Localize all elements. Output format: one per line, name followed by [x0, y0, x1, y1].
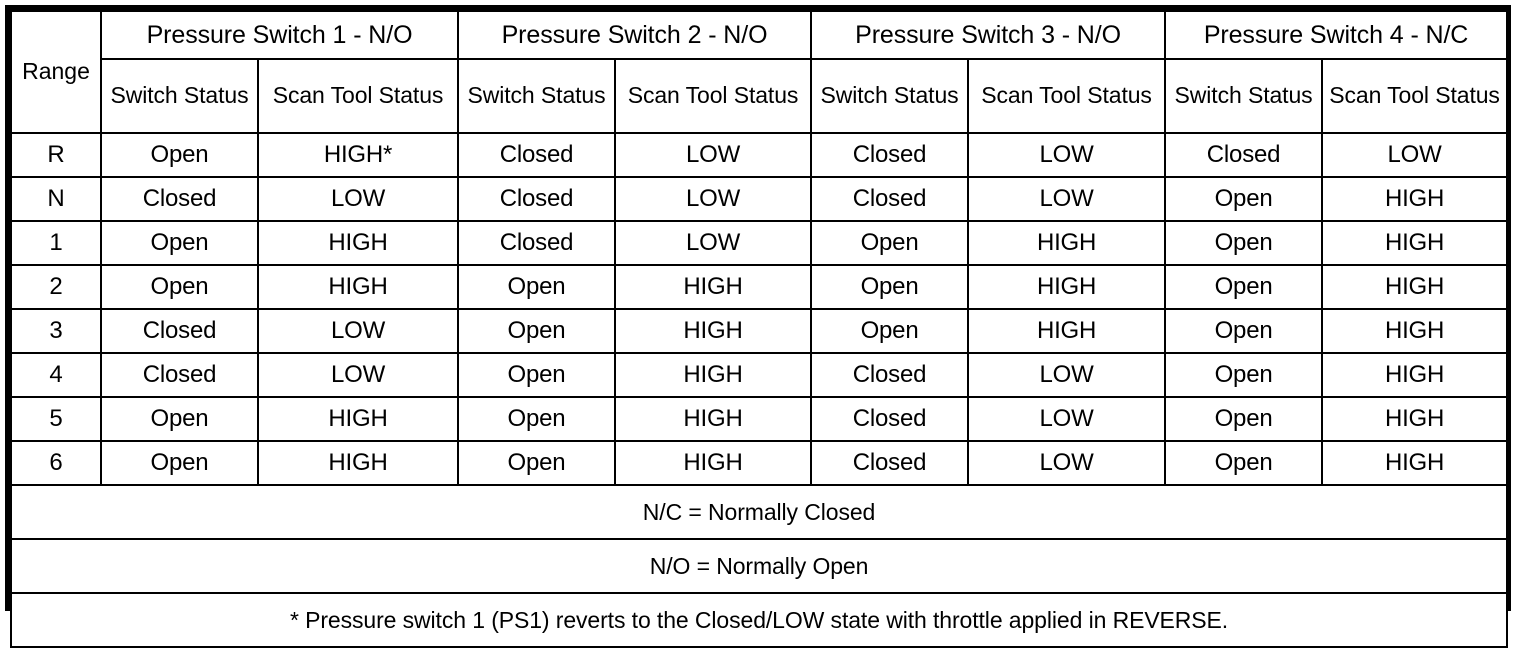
ps3-scan-tool-status-value: HIGH: [968, 221, 1165, 265]
ps3-switch-status-value: Closed: [811, 353, 968, 397]
ps3-scan-tool-status-value: LOW: [968, 353, 1165, 397]
ps1-scan-tool-status-value: LOW: [258, 353, 458, 397]
range-column-header: Range: [11, 11, 101, 133]
subheader-ps4-switch-status: Switch Status: [1165, 59, 1322, 133]
ps2-scan-tool-status-value: LOW: [615, 133, 811, 177]
ps1-switch-status-value: Closed: [101, 177, 258, 221]
table-row: 3ClosedLOWOpenHIGHOpenHIGHOpenHIGH: [11, 309, 1507, 353]
ps2-switch-status-value: Open: [458, 441, 615, 485]
ps4-scan-tool-status-value: HIGH: [1322, 309, 1507, 353]
ps2-scan-tool-status-value: LOW: [615, 221, 811, 265]
range-value: 6: [11, 441, 101, 485]
ps4-scan-tool-status-value: HIGH: [1322, 353, 1507, 397]
header-row-subcolumns: Switch Status Scan Tool Status Switch St…: [11, 59, 1507, 133]
ps2-switch-status-value: Closed: [458, 133, 615, 177]
ps1-switch-status-value: Open: [101, 265, 258, 309]
ps1-switch-status-value: Closed: [101, 353, 258, 397]
ps4-switch-status-value: Open: [1165, 265, 1322, 309]
ps2-scan-tool-status-value: HIGH: [615, 309, 811, 353]
table-row: 4ClosedLOWOpenHIGHClosedLOWOpenHIGH: [11, 353, 1507, 397]
subheader-ps1-switch-status: Switch Status: [101, 59, 258, 133]
ps4-scan-tool-status-value: HIGH: [1322, 265, 1507, 309]
range-value: 5: [11, 397, 101, 441]
ps3-switch-status-value: Closed: [811, 133, 968, 177]
ps2-scan-tool-status-value: HIGH: [615, 265, 811, 309]
range-value: 4: [11, 353, 101, 397]
ps3-switch-status-value: Open: [811, 309, 968, 353]
subheader-ps2-scan-tool-status: Scan Tool Status: [615, 59, 811, 133]
ps3-scan-tool-status-value: HIGH: [968, 309, 1165, 353]
group-header-pressure-switch-3: Pressure Switch 3 - N/O: [811, 11, 1165, 59]
ps2-switch-status-value: Closed: [458, 177, 615, 221]
ps2-scan-tool-status-value: HIGH: [615, 441, 811, 485]
table-row: 1OpenHIGHClosedLOWOpenHIGHOpenHIGH: [11, 221, 1507, 265]
ps2-switch-status-value: Open: [458, 353, 615, 397]
ps4-switch-status-value: Open: [1165, 397, 1322, 441]
footnote-normally-open: N/O = Normally Open: [11, 539, 1507, 593]
range-value: 1: [11, 221, 101, 265]
ps3-switch-status-value: Open: [811, 221, 968, 265]
pressure-switch-table-container: Range Pressure Switch 1 - N/O Pressure S…: [5, 5, 1511, 611]
ps4-switch-status-value: Open: [1165, 177, 1322, 221]
footnote-row-no: N/O = Normally Open: [11, 539, 1507, 593]
table-row: ROpenHIGH*ClosedLOWClosedLOWClosedLOW: [11, 133, 1507, 177]
ps4-scan-tool-status-value: HIGH: [1322, 221, 1507, 265]
subheader-ps3-switch-status: Switch Status: [811, 59, 968, 133]
table-body: ROpenHIGH*ClosedLOWClosedLOWClosedLOWNCl…: [11, 133, 1507, 485]
ps3-scan-tool-status-value: LOW: [968, 441, 1165, 485]
subheader-ps4-scan-tool-status: Scan Tool Status: [1322, 59, 1507, 133]
table-row: NClosedLOWClosedLOWClosedLOWOpenHIGH: [11, 177, 1507, 221]
ps2-scan-tool-status-value: HIGH: [615, 397, 811, 441]
group-header-pressure-switch-2: Pressure Switch 2 - N/O: [458, 11, 811, 59]
ps3-scan-tool-status-value: HIGH: [968, 265, 1165, 309]
ps2-switch-status-value: Open: [458, 397, 615, 441]
pressure-switch-range-table: Range Pressure Switch 1 - N/O Pressure S…: [10, 10, 1508, 648]
range-value: R: [11, 133, 101, 177]
ps3-switch-status-value: Closed: [811, 441, 968, 485]
ps1-switch-status-value: Closed: [101, 309, 258, 353]
group-header-pressure-switch-1: Pressure Switch 1 - N/O: [101, 11, 458, 59]
table-footnotes: N/C = Normally Closed N/O = Normally Ope…: [11, 485, 1507, 647]
table-row: 5OpenHIGHOpenHIGHClosedLOWOpenHIGH: [11, 397, 1507, 441]
ps1-scan-tool-status-value: HIGH*: [258, 133, 458, 177]
ps4-switch-status-value: Open: [1165, 309, 1322, 353]
group-header-pressure-switch-4: Pressure Switch 4 - N/C: [1165, 11, 1507, 59]
ps2-scan-tool-status-value: LOW: [615, 177, 811, 221]
ps1-scan-tool-status-value: HIGH: [258, 221, 458, 265]
footnote-normally-closed: N/C = Normally Closed: [11, 485, 1507, 539]
footnote-row-nc: N/C = Normally Closed: [11, 485, 1507, 539]
footnote-row-asterisk: * Pressure switch 1 (PS1) reverts to the…: [11, 593, 1507, 647]
ps1-scan-tool-status-value: HIGH: [258, 397, 458, 441]
ps4-switch-status-value: Open: [1165, 441, 1322, 485]
ps4-scan-tool-status-value: HIGH: [1322, 177, 1507, 221]
subheader-ps2-switch-status: Switch Status: [458, 59, 615, 133]
ps4-scan-tool-status-value: HIGH: [1322, 397, 1507, 441]
header-row-groups: Range Pressure Switch 1 - N/O Pressure S…: [11, 11, 1507, 59]
table-header: Range Pressure Switch 1 - N/O Pressure S…: [11, 11, 1507, 133]
ps1-switch-status-value: Open: [101, 441, 258, 485]
ps4-switch-status-value: Closed: [1165, 133, 1322, 177]
ps1-switch-status-value: Open: [101, 221, 258, 265]
ps3-switch-status-value: Closed: [811, 397, 968, 441]
ps1-scan-tool-status-value: LOW: [258, 309, 458, 353]
range-value: N: [11, 177, 101, 221]
ps2-switch-status-value: Open: [458, 309, 615, 353]
ps3-scan-tool-status-value: LOW: [968, 177, 1165, 221]
ps3-switch-status-value: Closed: [811, 177, 968, 221]
ps3-scan-tool-status-value: LOW: [968, 397, 1165, 441]
ps3-scan-tool-status-value: LOW: [968, 133, 1165, 177]
subheader-ps3-scan-tool-status: Scan Tool Status: [968, 59, 1165, 133]
ps2-switch-status-value: Open: [458, 265, 615, 309]
ps1-scan-tool-status-value: LOW: [258, 177, 458, 221]
range-value: 3: [11, 309, 101, 353]
ps1-switch-status-value: Open: [101, 133, 258, 177]
ps2-switch-status-value: Closed: [458, 221, 615, 265]
ps2-scan-tool-status-value: HIGH: [615, 353, 811, 397]
ps1-switch-status-value: Open: [101, 397, 258, 441]
ps4-switch-status-value: Open: [1165, 353, 1322, 397]
ps3-switch-status-value: Open: [811, 265, 968, 309]
ps4-scan-tool-status-value: LOW: [1322, 133, 1507, 177]
table-row: 6OpenHIGHOpenHIGHClosedLOWOpenHIGH: [11, 441, 1507, 485]
ps1-scan-tool-status-value: HIGH: [258, 441, 458, 485]
ps4-switch-status-value: Open: [1165, 221, 1322, 265]
footnote-ps1-reverse: * Pressure switch 1 (PS1) reverts to the…: [11, 593, 1507, 647]
ps4-scan-tool-status-value: HIGH: [1322, 441, 1507, 485]
range-value: 2: [11, 265, 101, 309]
table-row: 2OpenHIGHOpenHIGHOpenHIGHOpenHIGH: [11, 265, 1507, 309]
subheader-ps1-scan-tool-status: Scan Tool Status: [258, 59, 458, 133]
ps1-scan-tool-status-value: HIGH: [258, 265, 458, 309]
